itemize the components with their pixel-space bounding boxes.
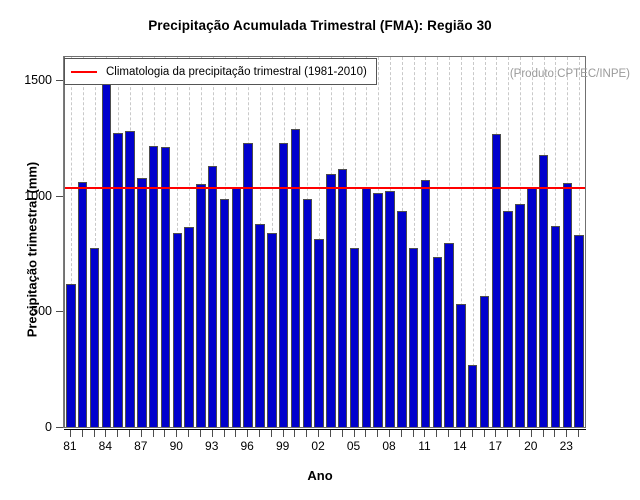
x-axis-tick: [129, 430, 130, 437]
x-axis-tick-label: 99: [276, 439, 289, 453]
x-axis-tick: [377, 430, 378, 437]
bar: [373, 193, 382, 427]
x-axis-tick: [105, 430, 106, 437]
x-axis-tick: [436, 430, 437, 437]
x-axis-tick: [354, 430, 355, 437]
x-axis-tick-label: 14: [453, 439, 466, 453]
x-axis-tick: [153, 430, 154, 437]
bar: [173, 233, 182, 427]
x-axis-tick: [176, 430, 177, 437]
y-axis-tick: [56, 311, 63, 312]
x-axis-tick-label: 08: [382, 439, 395, 453]
bar: [220, 199, 229, 427]
bar: [314, 239, 323, 427]
x-axis-tick: [247, 430, 248, 437]
plot-inner: [65, 57, 585, 427]
bar: [255, 224, 264, 428]
x-axis-tick-label: 23: [560, 439, 573, 453]
bar: [350, 248, 359, 427]
bar: [480, 296, 489, 427]
x-axis-tick-label: 90: [170, 439, 183, 453]
x-axis-tick: [271, 430, 272, 437]
bar: [184, 227, 193, 427]
chart-figure: Precipitação Acumulada Trimestral (FMA):…: [0, 0, 640, 500]
bar: [243, 143, 252, 427]
x-axis-tick: [235, 430, 236, 437]
x-axis-tick-label: 17: [489, 439, 502, 453]
bar: [397, 211, 406, 427]
x-axis-tick: [460, 430, 461, 437]
bar: [78, 182, 87, 427]
bar: [326, 174, 335, 427]
y-axis-tick-label: 0: [45, 420, 52, 434]
x-axis-tick: [200, 430, 201, 437]
x-axis-tick: [224, 430, 225, 437]
x-axis-tick-label: 02: [311, 439, 324, 453]
y-axis-tick: [56, 427, 63, 428]
bar: [574, 235, 583, 427]
x-axis-tick: [283, 430, 284, 437]
page-title: Precipitação Acumulada Trimestral (FMA):…: [0, 18, 640, 33]
bar: [113, 133, 122, 427]
y-axis-tick-label: 1000: [24, 189, 52, 203]
x-axis-tick: [117, 430, 118, 437]
y-axis-tick-label: 1500: [24, 73, 52, 87]
y-axis-tick: [56, 80, 63, 81]
bar: [196, 184, 205, 427]
x-axis-tick-label: 93: [205, 439, 218, 453]
bar: [385, 191, 394, 427]
legend-line-climatology-icon: [71, 71, 97, 73]
y-axis-tick: [56, 196, 63, 197]
x-axis-tick: [365, 430, 366, 437]
x-axis-tick-label: 96: [240, 439, 253, 453]
x-axis-tick: [578, 430, 579, 437]
bar: [409, 248, 418, 427]
x-axis-tick: [424, 430, 425, 437]
bar: [291, 129, 300, 427]
x-axis-tick: [401, 430, 402, 437]
x-axis-tick: [495, 430, 496, 437]
bar: [90, 248, 99, 427]
x-axis-tick: [318, 430, 319, 437]
bar: [503, 211, 512, 427]
bar: [137, 178, 146, 427]
plot-area: [64, 56, 586, 428]
x-axis-tick-label: 87: [134, 439, 147, 453]
y-axis-label: Precipitação trimestral (mm): [25, 120, 40, 380]
x-axis-tick: [448, 430, 449, 437]
watermark-label: (Produto:CPTEC/INPE): [510, 68, 630, 80]
x-axis-tick: [188, 430, 189, 437]
x-axis-tick: [566, 430, 567, 437]
x-axis-tick: [554, 430, 555, 437]
bar: [161, 147, 170, 427]
bar: [125, 131, 134, 427]
x-axis-tick: [342, 430, 343, 437]
bar: [338, 169, 347, 427]
bar: [232, 188, 241, 427]
x-axis-tick: [164, 430, 165, 437]
bar: [492, 134, 501, 427]
bar: [527, 187, 536, 428]
x-axis-tick-label: 81: [63, 439, 76, 453]
bar: [102, 79, 111, 427]
bar: [208, 166, 217, 427]
bar: [433, 257, 442, 427]
x-axis-tick: [413, 430, 414, 437]
x-axis-tick: [543, 430, 544, 437]
bar: [362, 187, 371, 428]
bar: [515, 204, 524, 427]
x-axis-tick: [212, 430, 213, 437]
bar: [444, 243, 453, 427]
bar: [303, 199, 312, 427]
bar: [456, 304, 465, 427]
x-axis-tick: [82, 430, 83, 437]
x-axis-tick: [330, 430, 331, 437]
bar: [551, 226, 560, 427]
x-axis-tick: [472, 430, 473, 437]
bar: [279, 143, 288, 427]
x-axis-tick: [484, 430, 485, 437]
x-axis-tick: [531, 430, 532, 437]
x-axis-tick: [94, 430, 95, 437]
x-axis-tick: [259, 430, 260, 437]
bar: [66, 284, 75, 427]
x-axis: 818487909396990205081114172023: [64, 429, 586, 430]
x-axis-tick: [141, 430, 142, 437]
legend: Climatologia da precipitação trimestral …: [64, 58, 377, 85]
bar: [421, 180, 430, 427]
bar: [563, 183, 572, 427]
x-axis-tick-label: 20: [524, 439, 537, 453]
x-axis-tick: [389, 430, 390, 437]
y-axis: 050010001500: [63, 56, 64, 428]
x-axis-tick: [507, 430, 508, 437]
legend-label-climatology: Climatologia da precipitação trimestral …: [106, 66, 367, 78]
x-axis-tick: [306, 430, 307, 437]
x-axis-tick-label: 11: [418, 439, 430, 453]
x-axis-tick-label: 84: [99, 439, 112, 453]
bar: [468, 365, 477, 427]
y-axis-tick-label: 500: [31, 304, 52, 318]
x-axis-label: Ano: [0, 468, 640, 483]
x-axis-tick-label: 05: [347, 439, 360, 453]
bar: [267, 233, 276, 427]
bar: [539, 155, 548, 427]
x-axis-tick: [519, 430, 520, 437]
climatology-reference-line: [65, 187, 585, 189]
x-axis-tick: [70, 430, 71, 437]
x-axis-tick: [294, 430, 295, 437]
